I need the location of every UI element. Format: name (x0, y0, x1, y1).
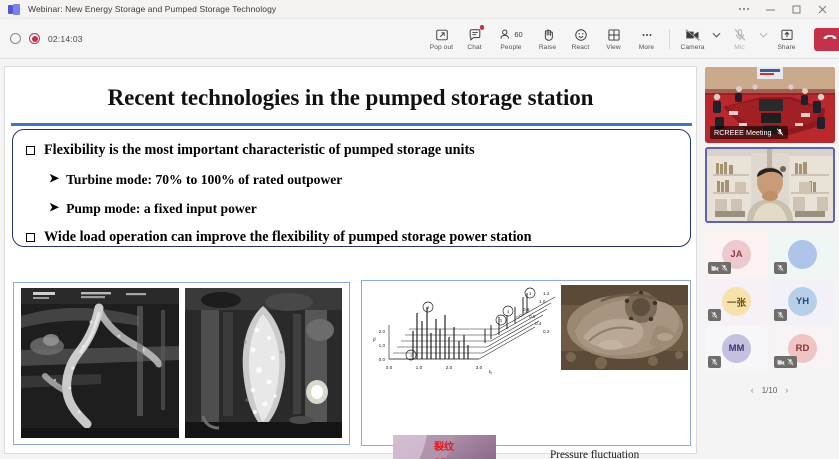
participant-tile-yh[interactable]: YH (771, 279, 834, 324)
mic-off-icon (721, 264, 728, 272)
status-badge (774, 309, 787, 321)
cavitation-cloud-photo (185, 288, 342, 438)
status-badge (708, 356, 721, 368)
meeting-toolbar: 02:14:03 Pop out Chat 60 (0, 19, 839, 59)
svg-text:1.0: 1.0 (539, 299, 546, 304)
svg-text:1.2: 1.2 (543, 291, 550, 296)
svg-text:3.0: 3.0 (476, 365, 483, 370)
svg-text:1.0: 1.0 (379, 343, 386, 348)
avatar (788, 240, 817, 269)
camera-options-chevron-down-icon[interactable] (709, 19, 723, 59)
bullet-item-1: Flexibility is the most important charac… (26, 142, 475, 159)
runner-crack-photo: 裂纹 (393, 435, 496, 459)
svg-text:2.0: 2.0 (446, 365, 453, 370)
toolbar-divider (669, 29, 670, 49)
svg-text:0.0: 0.0 (379, 357, 386, 362)
status-badge (708, 309, 721, 321)
pop-out-icon (435, 27, 449, 42)
svg-text:tₐ: tₐ (489, 369, 492, 374)
share-screen-icon (780, 27, 794, 42)
rcreee-tile-name-badge: RCREEE Meeting (710, 126, 788, 139)
timer-circle-icon (10, 33, 21, 44)
turbine-runner-photo (561, 285, 688, 370)
title-underline-rule (11, 123, 692, 126)
pop-out-button[interactable]: Pop out (425, 19, 458, 59)
raise-hand-icon (541, 27, 555, 42)
camera-label: Camera (680, 44, 704, 51)
view-label: View (606, 44, 621, 51)
pager-value: 1/10 (762, 386, 778, 395)
presentation-slide: Recent technologies in the pumped storag… (4, 66, 697, 454)
toolbar-actions: Pop out Chat 60 People Ra (425, 19, 839, 59)
recording-status: 02:14:03 (10, 33, 83, 44)
rcreee-tile-label: RCREEE Meeting (714, 128, 772, 137)
svg-text:p̃: p̃ (372, 337, 376, 342)
chat-label: Chat (467, 44, 481, 51)
mic-off-icon (733, 27, 747, 42)
square-bullet-icon (26, 146, 35, 155)
participant-tile-2[interactable] (771, 232, 834, 277)
people-count: 60 (514, 30, 522, 39)
pager-next-chevron-right-icon[interactable]: › (785, 385, 788, 395)
more-ellipsis-icon (640, 27, 654, 42)
square-bullet-icon (26, 233, 35, 242)
camera-off-icon (685, 27, 701, 42)
raise-hand-button[interactable]: Raise (531, 19, 564, 59)
vortex-rope-photo (21, 288, 179, 438)
svg-text:1.0: 1.0 (416, 365, 423, 370)
mic-off-icon (787, 358, 794, 366)
svg-text:0.2: 0.2 (543, 329, 550, 334)
chat-icon (468, 27, 482, 42)
window-maximize-icon[interactable] (783, 0, 809, 19)
meeting-timer: 02:14:03 (48, 34, 83, 44)
participant-tile-zhang[interactable]: 一张 (705, 279, 768, 324)
people-icon: 60 (499, 27, 522, 42)
teams-icon (8, 4, 20, 15)
mic-off-icon (776, 128, 784, 138)
window-title: Webinar: New Energy Storage and Pumped S… (28, 4, 276, 14)
arrow-bullet-icon: ➤ (49, 172, 59, 184)
more-button[interactable]: More (630, 19, 663, 59)
mic-off-icon (711, 358, 718, 366)
participant-tile-mm[interactable]: MM (705, 326, 768, 371)
avatar: MM (722, 334, 751, 363)
status-badge (774, 356, 797, 368)
mic-off-icon (777, 311, 784, 319)
avatar: 一张 (722, 287, 751, 316)
window-close-icon[interactable] (809, 0, 835, 19)
svg-text:2.0: 2.0 (379, 329, 386, 334)
slide-title: Recent technologies in the pumped storag… (5, 85, 696, 111)
pop-out-label: Pop out (430, 44, 453, 51)
people-button[interactable]: 60 People (491, 19, 531, 59)
view-button[interactable]: View (597, 19, 630, 59)
status-badge (708, 262, 731, 274)
participant-tile-rd[interactable]: RD (771, 326, 834, 371)
raise-hand-label: Raise (539, 44, 556, 51)
chat-button[interactable]: Chat (458, 19, 491, 59)
share-label: Share (777, 44, 795, 51)
participant-rail: RCREEE Meeting (700, 60, 839, 459)
hangup-icon (823, 33, 837, 45)
mic-off-icon (777, 264, 784, 272)
participant-tile-ja[interactable]: JA (705, 232, 768, 277)
svg-text:0.6: 0.6 (529, 314, 536, 319)
react-smiley-icon (574, 27, 588, 42)
avatar: YH (788, 287, 817, 316)
pager-prev-chevron-left-icon[interactable]: ‹ (751, 385, 754, 395)
leave-button[interactable]: Leave (814, 28, 839, 51)
participant-pager: ‹ 1/10 › (700, 385, 839, 395)
rcreee-meeting-tile[interactable]: RCREEE Meeting (705, 67, 835, 143)
crack-label-cn: 裂纹 (433, 440, 455, 453)
bullet-item-2: ➤ Turbine mode: 70% to 100% of rated out… (49, 172, 342, 188)
bullet-item-3: ➤ Pump mode: a fixed input power (49, 201, 257, 217)
speaker-tile[interactable] (705, 147, 835, 223)
bullet-text-3: Pump mode: a fixed input power (66, 201, 257, 217)
label-pressure-fluctuation: Pressure fluctuation (550, 448, 639, 459)
svg-text:0.4: 0.4 (535, 321, 542, 326)
camera-off-icon (777, 359, 785, 366)
status-badge (774, 262, 787, 274)
mic-button[interactable]: Mic (723, 19, 756, 59)
mic-label: Mic (734, 44, 745, 51)
slide-callout-box: Flexibility is the most important charac… (12, 129, 691, 247)
window-title-bar: Webinar: New Energy Storage and Pumped S… (0, 0, 839, 19)
arrow-bullet-icon: ➤ (49, 201, 59, 213)
recording-icon[interactable] (29, 33, 40, 44)
teams-meeting-window: Webinar: New Energy Storage and Pumped S… (0, 0, 839, 459)
window-more-icon[interactable] (731, 0, 757, 19)
more-label: More (639, 44, 654, 51)
camera-off-icon (711, 265, 719, 272)
mic-options-chevron-down-icon[interactable] (756, 19, 770, 59)
react-label: React (572, 44, 590, 51)
share-button[interactable]: Share (770, 19, 803, 59)
mic-off-icon (711, 311, 718, 319)
chat-unread-badge (480, 25, 485, 30)
people-label: People (500, 44, 521, 51)
damage-phenomena-labels: Pressure fluctuation Cavitation erosion … (550, 448, 639, 459)
pressure-fluctuation-waterfall-chart: 12 345 0.0 1.0 2.0 0.0 1.0 2.0 3.0 0.2 0… (367, 285, 557, 377)
react-button[interactable]: React (564, 19, 597, 59)
camera-button[interactable]: Camera (676, 19, 709, 59)
window-minimize-icon[interactable] (757, 0, 783, 19)
view-grid-icon (607, 27, 621, 42)
shared-content-stage: Recent technologies in the pumped storag… (0, 60, 700, 459)
bullet-text-4: Wide load operation can improve the flex… (44, 229, 532, 246)
bullet-text-1: Flexibility is the most important charac… (44, 142, 475, 159)
bullet-text-2: Turbine mode: 70% to 100% of rated outpo… (66, 172, 342, 188)
svg-text:0.0: 0.0 (386, 365, 393, 370)
bullet-item-4: Wide load operation can improve the flex… (26, 229, 532, 246)
